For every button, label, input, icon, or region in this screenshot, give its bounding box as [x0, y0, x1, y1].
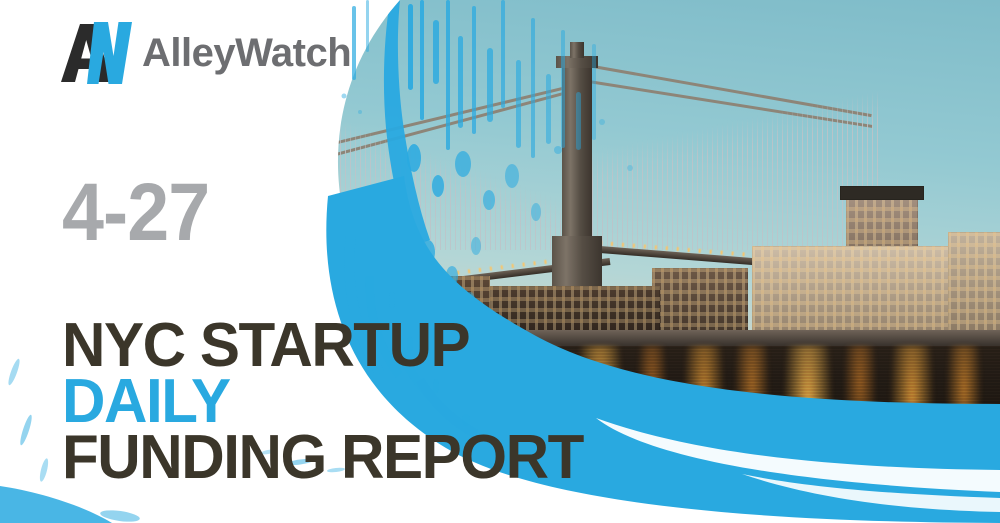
headline-line-1: NYC STARTUP — [62, 318, 583, 374]
report-date: 4-27 — [62, 172, 209, 254]
funding-report-banner: AlleyWatch 4-27 NYC STARTUP DAILY FUNDIN… — [0, 0, 1000, 523]
brand-name: AlleyWatch — [142, 33, 351, 73]
bridge-tower-finial — [570, 42, 584, 58]
headline-line-2: DAILY — [62, 374, 583, 430]
aw-monogram-icon — [60, 22, 138, 84]
logo-letter-w-glyph — [87, 22, 132, 84]
bridge-hangers-left — [300, 110, 580, 250]
aw-monogram-svg — [60, 22, 138, 84]
alleywatch-logo[interactable]: AlleyWatch — [60, 22, 351, 84]
building-windows — [948, 232, 1000, 344]
headline-block: NYC STARTUP DAILY FUNDING REPORT — [62, 318, 599, 485]
building-right-block — [948, 232, 1000, 344]
headline-line-3: FUNDING REPORT — [62, 430, 583, 486]
bridge-hangers-right — [582, 70, 882, 250]
bridge-tower-pier — [552, 236, 602, 290]
building-roof-cap — [840, 186, 924, 200]
